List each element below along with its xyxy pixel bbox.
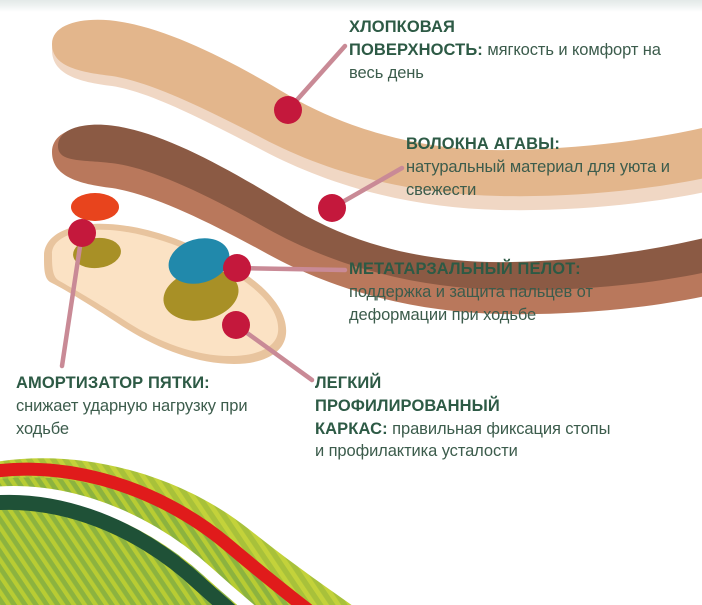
marker-heel[interactable] [68,219,96,247]
callout-metatarsal: МЕТАТАРЗАЛЬНЫЙ ПЕЛОТ: поддержка и защита… [349,258,689,326]
marker-frame[interactable] [222,311,250,339]
callout-metatarsal-heading: МЕТАТАРЗАЛЬНЫЙ ПЕЛОТ: [349,260,581,278]
infographic-canvas: ХЛОПКОВАЯ ПОВЕРХНОСТЬ: мягкость и комфор… [0,0,702,605]
callout-metatarsal-body: поддержка и защита пальцев от деформации… [349,283,593,324]
decor-green-wave [0,458,380,605]
callout-cotton-heading-line-1: ХЛОПКОВАЯ [349,18,455,36]
leader-line-metatarsal [237,268,345,270]
heel-shock-absorber-pad [71,193,119,221]
marker-cotton[interactable] [274,96,302,124]
callout-agave-heading: ВОЛОКНА АГАВЫ: [406,135,560,153]
callout-agave: ВОЛОКНА АГАВЫ: натуральный материал для … [406,133,686,201]
callout-cotton: ХЛОПКОВАЯ ПОВЕРХНОСТЬ: мягкость и комфор… [349,16,679,84]
callout-heel: АМОРТИЗАТОР ПЯТКИ: снижает ударную нагру… [16,372,286,440]
callout-frame-heading-line-3: КАРКАС: [315,420,388,438]
callout-heel-body: снижает ударную нагрузку при ходьбе [16,397,247,438]
callout-agave-body: натуральный материал для уюта и свежести [406,158,670,199]
callout-cotton-heading-line-2: ПОВЕРХНОСТЬ: [349,41,483,59]
callout-heel-heading: АМОРТИЗАТОР ПЯТКИ: [16,374,210,392]
callout-frame: ЛЕГКИЙ ПРОФИЛИРОВАННЫЙ КАРКАС: правильна… [315,372,615,463]
marker-agave[interactable] [318,194,346,222]
marker-metatarsal[interactable] [223,254,251,282]
callout-frame-heading-line-1: ЛЕГКИЙ [315,374,381,392]
callout-frame-heading-line-2: ПРОФИЛИРОВАННЫЙ [315,397,500,415]
